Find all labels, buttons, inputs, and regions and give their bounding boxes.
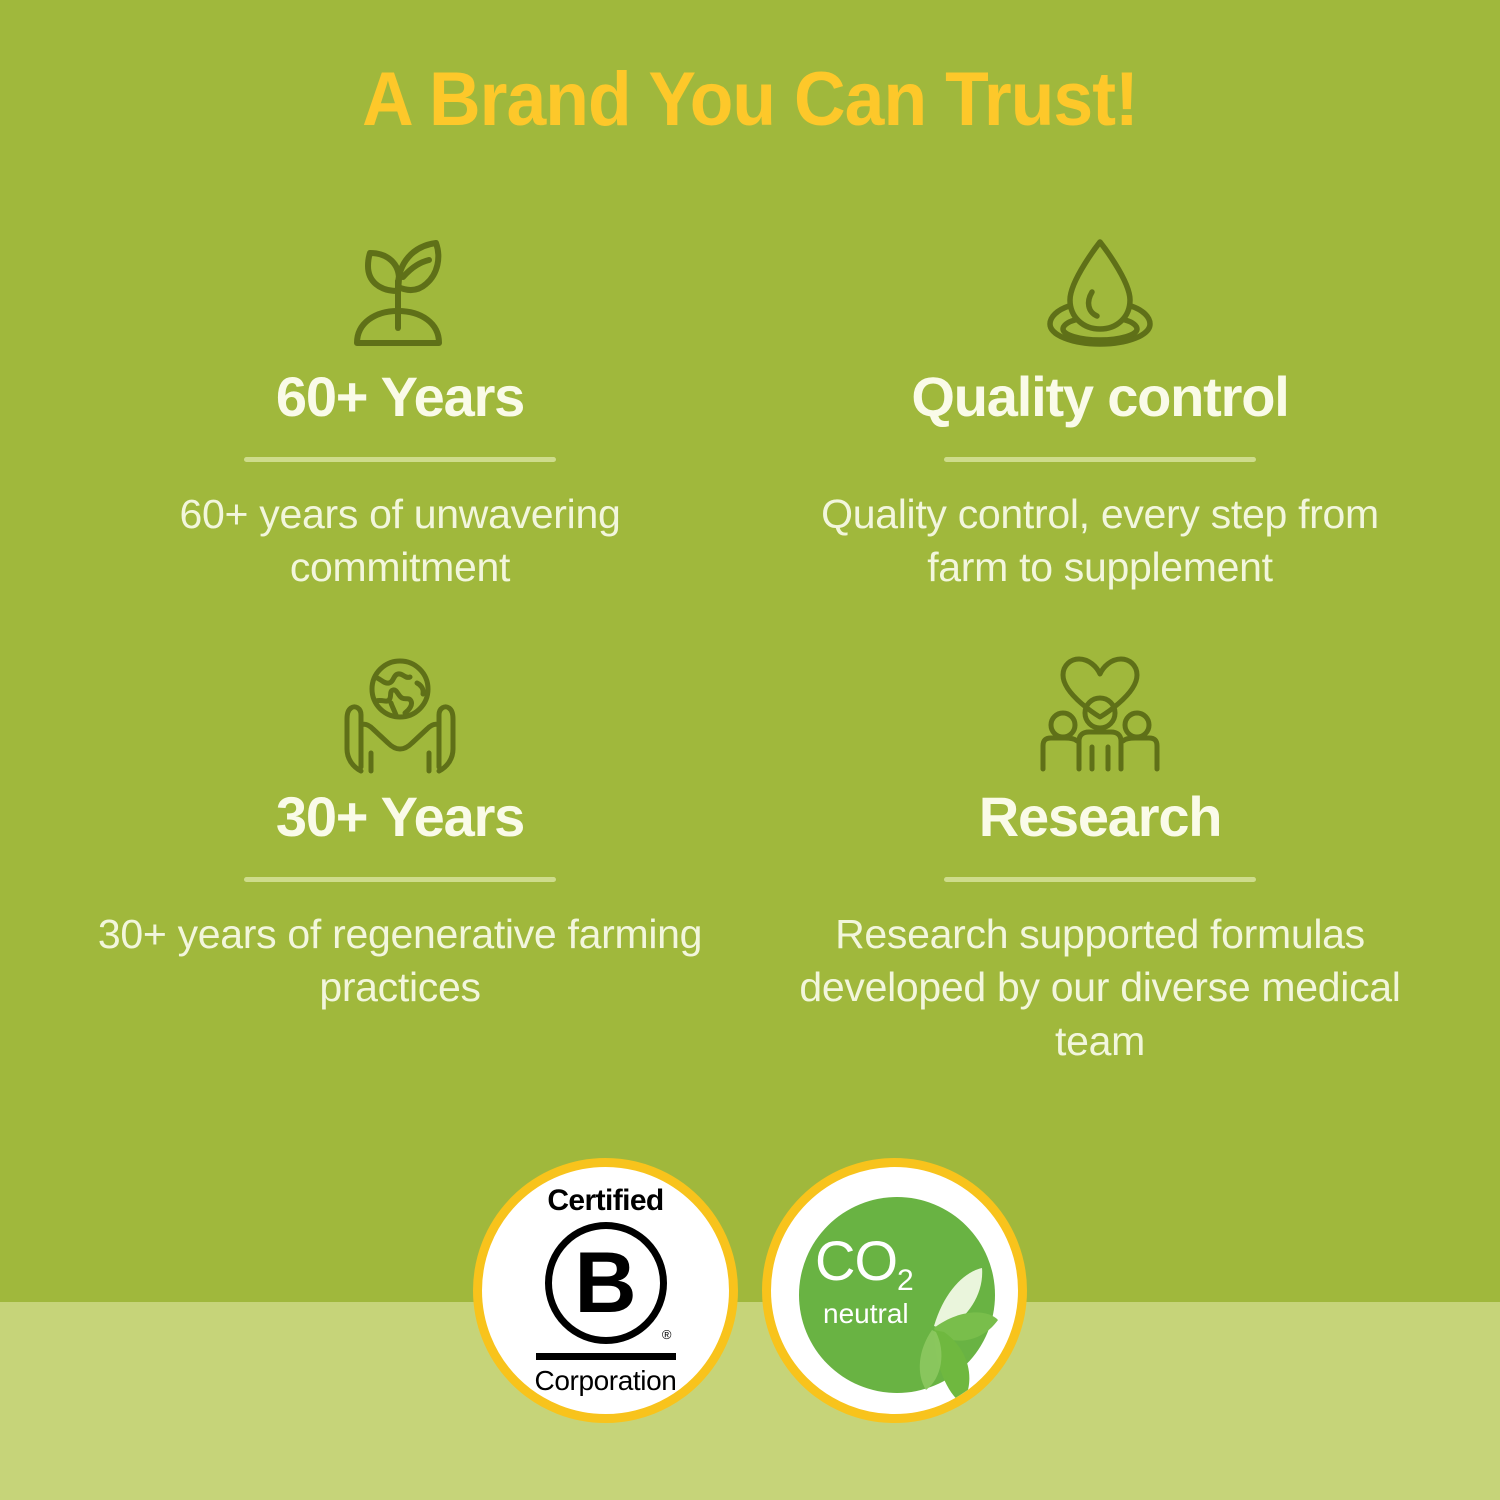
feature-heading: 30+ Years: [76, 788, 724, 847]
feature-body: Quality control, every step from farm to…: [790, 488, 1410, 595]
people-heart-icon: [776, 652, 1424, 776]
feature-grid: 60+ Years 60+ years of unwavering commit…: [60, 232, 1440, 1068]
feature-card-60-years: 60+ Years 60+ years of unwavering commit…: [60, 232, 740, 594]
bcorp-letter: B: [574, 1240, 636, 1326]
feature-body: Research supported formulas developed by…: [790, 908, 1410, 1068]
co2-subscript: 2: [897, 1264, 914, 1297]
feature-divider: [244, 457, 556, 462]
b-corp-certified-badge: Certified B ® Corporation: [473, 1158, 738, 1423]
bcorp-mark: B ®: [545, 1222, 667, 1344]
hands-holding-globe-icon: [76, 652, 724, 776]
bcorp-bottom-label: Corporation: [535, 1367, 677, 1395]
feature-body: 30+ years of regenerative farming practi…: [90, 908, 710, 1015]
feature-heading: Research: [776, 788, 1424, 847]
water-droplet-icon: [776, 232, 1424, 356]
feature-card-quality-control: Quality control Quality control, every s…: [760, 232, 1440, 594]
feature-card-research: Research Research supported formulas dev…: [760, 652, 1440, 1068]
co2-neutral-badge: CO2 neutral: [762, 1158, 1027, 1423]
co2-label-group: CO2 neutral: [815, 1233, 965, 1328]
registered-trademark-icon: ®: [662, 1328, 672, 1341]
bcorp-rule: [536, 1353, 676, 1360]
feature-card-30-years: 30+ Years 30+ years of regenerative farm…: [60, 652, 740, 1068]
feature-heading: 60+ Years: [76, 368, 724, 427]
co2-main-label: CO: [815, 1233, 897, 1289]
page-title: A Brand You Can Trust!: [45, 56, 1455, 143]
feature-divider: [944, 877, 1256, 882]
bcorp-top-label: Certified: [547, 1186, 663, 1216]
co2-sub-label: neutral: [823, 1300, 965, 1328]
feature-divider: [944, 457, 1256, 462]
feature-body: 60+ years of unwavering commitment: [90, 488, 710, 595]
promo-graphic: A Brand You Can Trust! 60+ Years 60+ yea…: [0, 0, 1500, 1500]
feature-heading: Quality control: [776, 368, 1424, 427]
feature-divider: [244, 877, 556, 882]
sprout-icon: [76, 232, 724, 356]
certification-badges: Certified B ® Corporation CO2: [0, 1158, 1500, 1423]
